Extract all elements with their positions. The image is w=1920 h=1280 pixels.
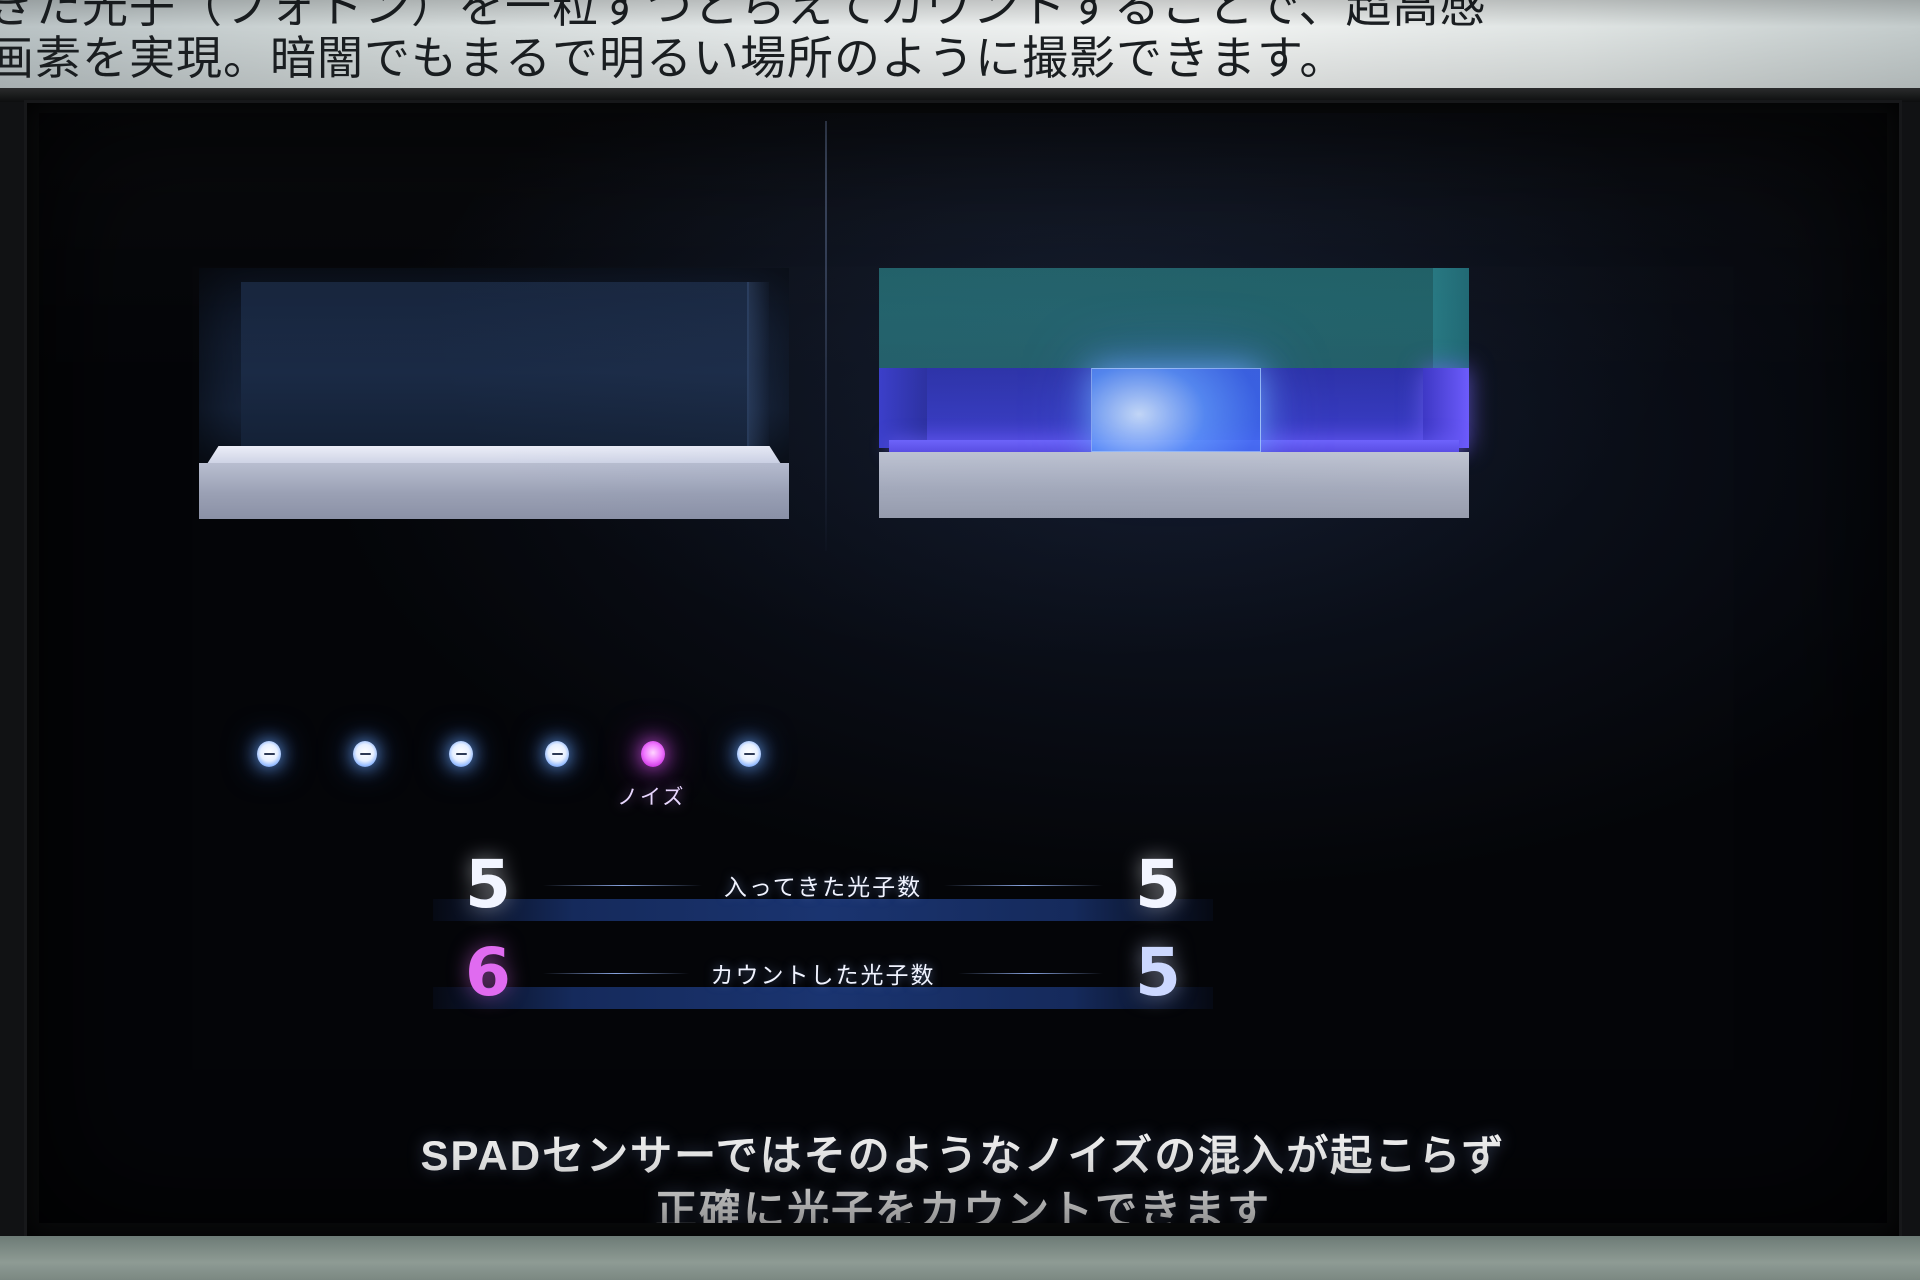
electron-minus-icon — [264, 753, 275, 755]
counter-value-cmos: 6 — [433, 940, 543, 1006]
spad-room-upper-right-wall — [1433, 268, 1469, 368]
counter-row-bar — [433, 899, 1213, 921]
noise-dot — [641, 741, 665, 767]
electron-minus-icon — [552, 753, 563, 755]
caption-block: SPADセンサーではそのようなノイズの混入が起こらず 正確に光子をカウントできま… — [39, 1128, 1887, 1223]
cmos-room-back-wall — [241, 282, 749, 446]
cmos-illustration — [199, 268, 789, 518]
photon-dot-row: ノイズ — [257, 741, 777, 787]
counter-row-bar — [433, 987, 1213, 1009]
counter-row: 5入ってきた光子数5 — [433, 853, 1213, 917]
cmos-sensor-slab-top — [207, 446, 781, 464]
counter-rule-left — [543, 885, 702, 886]
electron-minus-icon — [456, 753, 467, 755]
spad-glowing-cube — [1091, 368, 1261, 452]
counter-table: 5入ってきた光子数56カウントした光子数5 — [433, 853, 1213, 1029]
lower-wall-strip — [0, 1236, 1920, 1280]
wall-text-panel: きた光子（フォトン）を一粒ずつとらえてカウントすることで、超高感 画素を実現。暗… — [0, 0, 1920, 88]
cmos-sensor-slab-front — [199, 463, 789, 519]
counter-label: 入ってきた光子数 — [724, 868, 922, 902]
counter-value-cmos: 5 — [433, 852, 543, 918]
display-screen: CMOSセンサー SPADセンサー — [39, 113, 1887, 1223]
counter-value-spad: 5 — [1103, 940, 1213, 1006]
photon-dot — [545, 741, 569, 767]
counter-rule-right — [958, 973, 1104, 974]
photon-dot — [257, 741, 281, 767]
counter-label-group: 入ってきた光子数 — [543, 868, 1103, 902]
cmos-room-right-wall — [747, 282, 769, 446]
caption-line-1: SPADセンサーではそのようなノイズの混入が起こらず — [39, 1128, 1887, 1183]
spad-room-upper-teal — [879, 268, 1469, 368]
noise-label: ノイズ — [617, 781, 685, 811]
display-bezel: CMOSセンサー SPADセンサー — [24, 100, 1902, 1240]
photon-dot — [737, 741, 761, 767]
spad-sensor-slab — [879, 452, 1469, 518]
counter-row: 6カウントした光子数5 — [433, 941, 1213, 1005]
cmos-room-box — [199, 268, 789, 463]
spad-room-mid-right-wall — [1423, 368, 1469, 448]
spad-illustration — [879, 268, 1469, 518]
counter-value-spad: 5 — [1103, 852, 1213, 918]
wall-text-line-2: 画素を実現。暗闇でもまるで明るい場所のように撮影できます。 — [0, 22, 1920, 88]
counter-rule-left — [543, 973, 689, 974]
counter-rule-right — [944, 885, 1103, 886]
counter-label-group: カウントした光子数 — [543, 956, 1103, 990]
spad-room-mid-left-wall — [879, 368, 927, 448]
photograph-of-display: きた光子（フォトン）を一粒ずつとらえてカウントすることで、超高感 画素を実現。暗… — [0, 0, 1920, 1280]
photon-dot — [353, 741, 377, 767]
panel-divider — [825, 121, 827, 551]
photon-dot — [449, 741, 473, 767]
caption-line-2: 正確に光子をカウントできます — [39, 1183, 1887, 1223]
electron-minus-icon — [360, 753, 371, 755]
electron-minus-icon — [744, 753, 755, 755]
counter-label: カウントした光子数 — [711, 956, 936, 990]
